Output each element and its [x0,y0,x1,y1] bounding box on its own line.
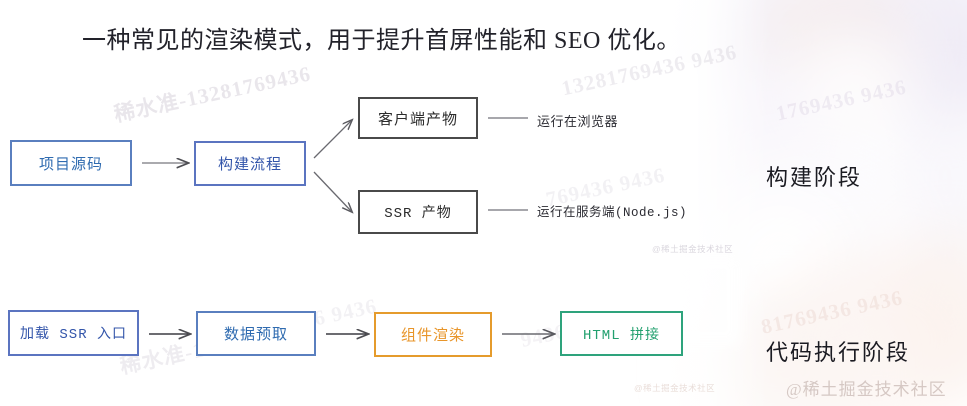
node-data-prefetch[interactable]: 数据预取 [196,311,316,356]
pirate-watermark-1: 稀水准-13281769436 [111,57,313,128]
node-label: SSR 产物 [384,202,452,222]
node-project-source[interactable]: 项目源码 [10,140,132,186]
node-load-ssr-entry[interactable]: 加载 SSR 入口 [8,310,139,356]
pirate-watermark-6: 1769436 9436 [774,74,909,126]
node-label: 客户端产物 [378,108,458,129]
node-build-process[interactable]: 构建流程 [194,141,306,186]
page-title: 一种常见的渲染模式，用于提升首屏性能和 SEO 优化。 [82,20,681,55]
brand-watermark: @稀土掘金技术社区 [786,375,947,400]
slide-canvas: 稀水准-13281769436 13281769436 9436 769436 … [0,0,967,406]
stage-label-build: 构建阶段 [766,160,862,192]
stage-label-execute: 代码执行阶段 [766,335,910,367]
node-component-render[interactable]: 组件渲染 [374,312,492,357]
node-label: 加载 SSR 入口 [20,323,127,343]
node-ssr-bundle[interactable]: SSR 产物 [358,190,478,234]
node-label: 数据预取 [224,323,288,344]
small-watermark-1: @稀土掘金技术社区 [652,243,733,255]
node-html-concat[interactable]: HTML 拼接 [560,311,683,356]
node-label: 构建流程 [218,153,282,174]
small-watermark-2: @稀土掘金技术社区 [634,382,715,394]
node-label: HTML 拼接 [583,324,660,344]
note-run-on-server: 运行在服务端(Node.js) [537,201,687,220]
node-label: 组件渲染 [401,324,465,345]
node-client-bundle[interactable]: 客户端产物 [358,97,478,139]
pirate-watermark-5: 81769436 9436 [759,285,905,339]
note-run-in-browser: 运行在浏览器 [537,111,618,130]
node-label: 项目源码 [39,153,103,174]
